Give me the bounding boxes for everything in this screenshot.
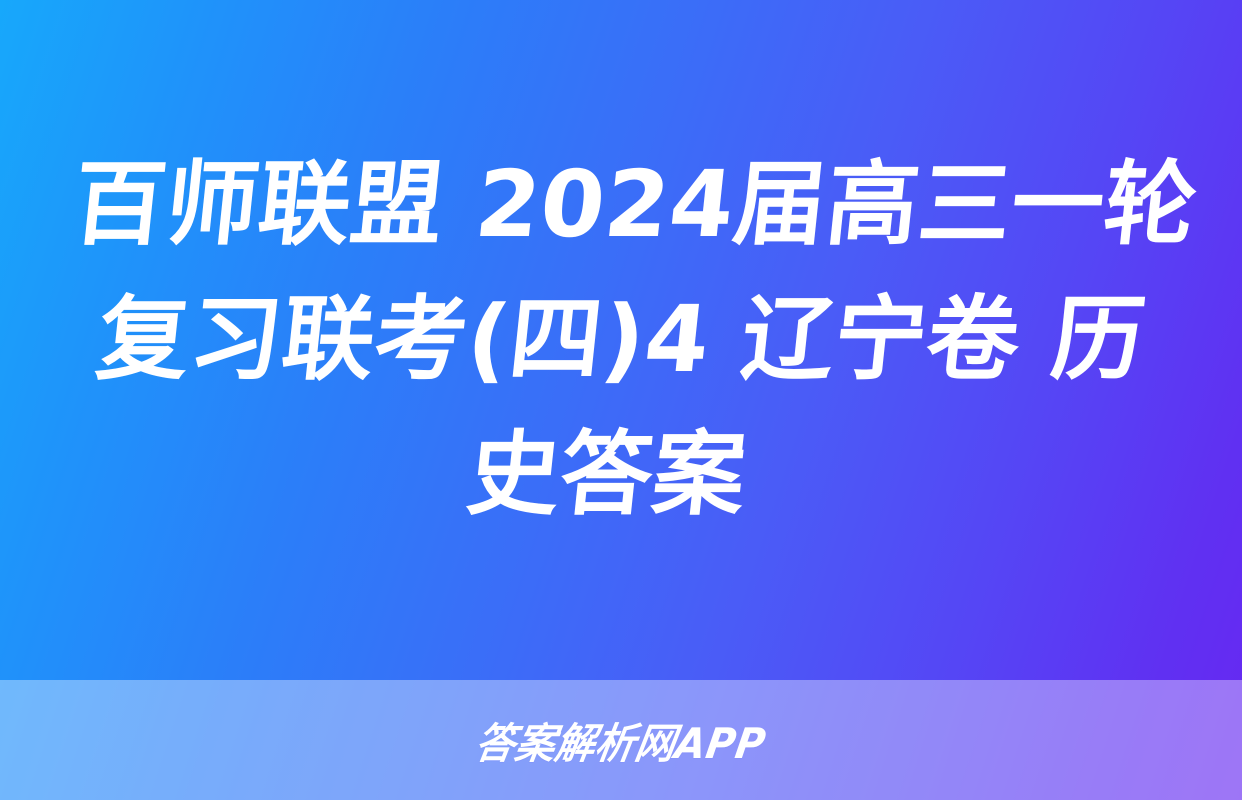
- watermark-text: 答案解析网APP: [471, 710, 770, 771]
- page-title: 百师联盟 2024届高三一轮复习联考(四)4 辽宁卷 历史答案: [35, 137, 1208, 543]
- answer-poster: 百师联盟 2024届高三一轮复习联考(四)4 辽宁卷 历史答案 答案解析网APP: [0, 0, 1242, 800]
- title-area: 百师联盟 2024届高三一轮复习联考(四)4 辽宁卷 历史答案: [0, 0, 1242, 680]
- watermark-band: 答案解析网APP: [0, 680, 1242, 800]
